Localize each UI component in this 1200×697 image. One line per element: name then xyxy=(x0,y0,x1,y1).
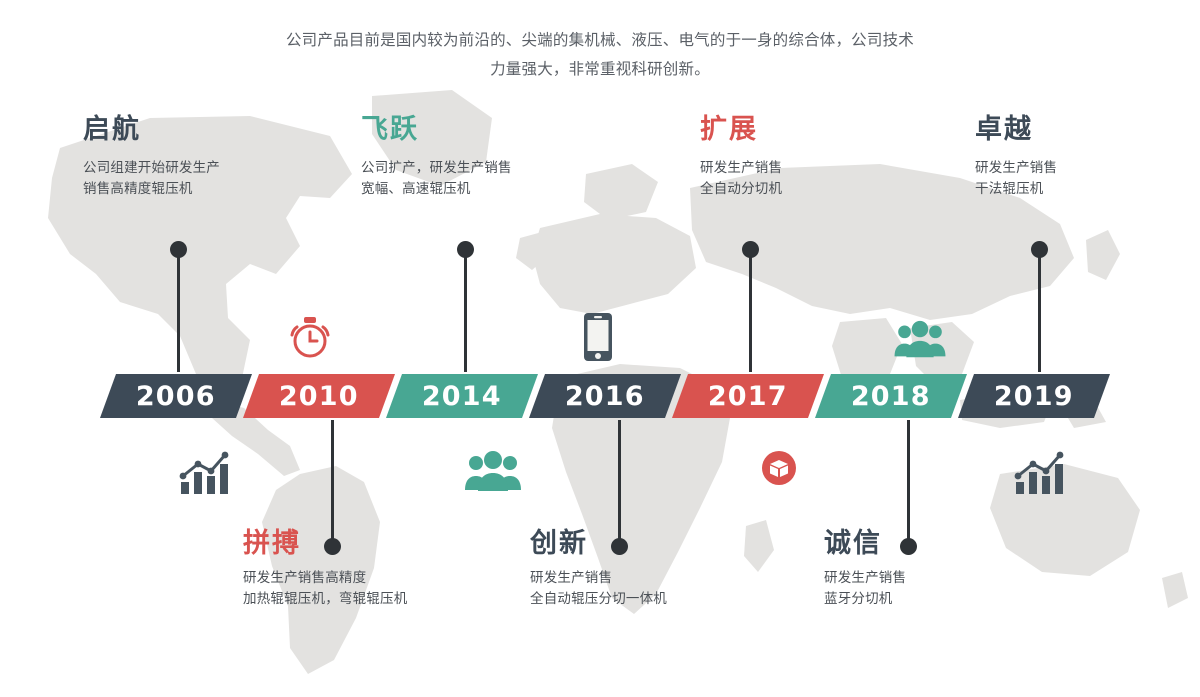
milestone-block-2010: 拼搏 研发生产销售高精度 加热辊辊压机，弯辊辊压机 xyxy=(243,530,498,609)
connector-dot-2017 xyxy=(742,241,759,258)
milestone-body-line-1: 研发生产销售 xyxy=(975,157,1175,178)
milestone-body: 研发生产销售 全自动辊压分切一体机 xyxy=(530,567,780,609)
year-banner-2019[interactable]: 2019 xyxy=(958,374,1110,418)
bar-chart-trend-icon xyxy=(178,450,232,498)
year-label: 2014 xyxy=(422,383,502,410)
year-label: 2006 xyxy=(136,383,216,410)
timeline-infographic: 公司产品目前是国内较为前沿的、尖端的集机械、液压、电气的于一身的综合体，公司技术… xyxy=(0,0,1200,697)
connector-stem-2017 xyxy=(749,250,752,372)
connector-dot-2006 xyxy=(170,241,187,258)
connector-dot-2014 xyxy=(457,241,474,258)
people-group-icon xyxy=(464,450,522,494)
milestone-body-line-2: 加热辊辊压机，弯辊辊压机 xyxy=(243,588,498,609)
year-banner-2017[interactable]: 2017 xyxy=(672,374,824,418)
year-label: 2010 xyxy=(279,383,359,410)
year-label: 2017 xyxy=(708,383,788,410)
milestone-block-2017: 扩展 研发生产销售 全自动分切机 xyxy=(700,116,900,199)
connector-stem-2014 xyxy=(464,250,467,372)
open-box-icon xyxy=(757,446,801,490)
milestone-body: 研发生产销售高精度 加热辊辊压机，弯辊辊压机 xyxy=(243,567,498,609)
milestone-body-line-1: 公司扩产，研发生产销售 xyxy=(361,157,591,178)
milestone-heading: 诚信 xyxy=(824,530,1044,557)
connector-stem-2010 xyxy=(331,420,334,542)
year-banner-2010[interactable]: 2010 xyxy=(243,374,395,418)
year-label: 2019 xyxy=(994,383,1074,410)
intro-line-1: 公司产品目前是国内较为前沿的、尖端的集机械、液压、电气的于一身的综合体，公司技术 xyxy=(0,26,1200,55)
milestone-body-line-2: 干法辊压机 xyxy=(975,178,1175,199)
milestone-body: 研发生产销售 蓝牙分切机 xyxy=(824,567,1044,609)
connector-dot-2019 xyxy=(1031,241,1048,258)
intro-paragraph: 公司产品目前是国内较为前沿的、尖端的集机械、液压、电气的于一身的综合体，公司技术… xyxy=(0,26,1200,84)
milestone-block-2014: 飞跃 公司扩产，研发生产销售 宽幅、高速辊压机 xyxy=(361,116,591,199)
milestone-body: 研发生产销售 干法辊压机 xyxy=(975,157,1175,199)
milestone-body-line-1: 公司组建开始研发生产 xyxy=(83,157,298,178)
milestone-body-line-1: 研发生产销售 xyxy=(824,567,1044,588)
milestone-heading: 启航 xyxy=(83,116,298,143)
milestone-heading: 拼搏 xyxy=(243,530,498,557)
intro-line-2: 力量强大，非常重视科研创新。 xyxy=(0,55,1200,84)
milestone-block-2016: 创新 研发生产销售 全自动辊压分切一体机 xyxy=(530,530,780,609)
milestone-body-line-2: 宽幅、高速辊压机 xyxy=(361,178,591,199)
milestone-body-line-1: 研发生产销售 xyxy=(700,157,900,178)
milestone-heading: 创新 xyxy=(530,530,780,557)
milestone-body-line-2: 全自动辊压分切一体机 xyxy=(530,588,780,609)
milestone-body-line-1: 研发生产销售 xyxy=(530,567,780,588)
milestone-body: 研发生产销售 全自动分切机 xyxy=(700,157,900,199)
connector-stem-2006 xyxy=(177,250,180,372)
connector-stem-2018 xyxy=(907,420,910,542)
milestone-block-2018: 诚信 研发生产销售 蓝牙分切机 xyxy=(824,530,1044,609)
milestone-heading: 飞跃 xyxy=(361,116,591,143)
year-label: 2018 xyxy=(851,383,931,410)
year-banner-2014[interactable]: 2014 xyxy=(386,374,538,418)
milestone-block-2019: 卓越 研发生产销售 干法辊压机 xyxy=(975,116,1175,199)
milestone-body-line-1: 研发生产销售高精度 xyxy=(243,567,498,588)
connector-stem-2019 xyxy=(1038,250,1041,372)
milestone-body-line-2: 全自动分切机 xyxy=(700,178,900,199)
milestone-body: 公司扩产，研发生产销售 宽幅、高速辊压机 xyxy=(361,157,591,199)
milestone-body: 公司组建开始研发生产 销售高精度辊压机 xyxy=(83,157,298,199)
connector-stem-2016 xyxy=(618,420,621,542)
alarm-clock-icon xyxy=(288,315,332,361)
year-banner-2016[interactable]: 2016 xyxy=(529,374,681,418)
year-banner-2018[interactable]: 2018 xyxy=(815,374,967,418)
year-banner-2006[interactable]: 2006 xyxy=(100,374,252,418)
milestone-body-line-2: 销售高精度辊压机 xyxy=(83,178,298,199)
milestone-heading: 扩展 xyxy=(700,116,900,143)
milestone-body-line-2: 蓝牙分切机 xyxy=(824,588,1044,609)
year-label: 2016 xyxy=(565,383,645,410)
smartphone-icon xyxy=(583,312,613,362)
bar-chart-trend-icon xyxy=(1013,450,1067,498)
timeline-year-banners: 2006 2010 2014 2016 2017 2018 2019 xyxy=(108,374,1102,418)
milestone-block-2006: 启航 公司组建开始研发生产 销售高精度辊压机 xyxy=(83,116,298,199)
people-group-icon xyxy=(893,320,947,360)
milestone-heading: 卓越 xyxy=(975,116,1175,143)
